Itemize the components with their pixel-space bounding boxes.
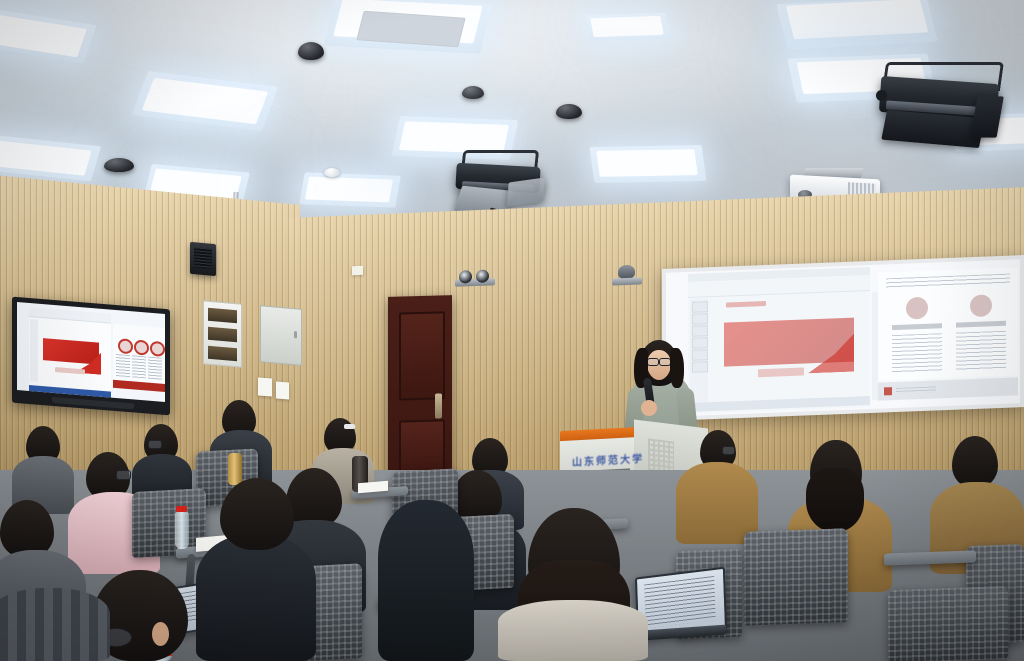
camera-bracket xyxy=(612,277,642,285)
ceiling-speaker-icon xyxy=(104,158,134,172)
camera-pair xyxy=(455,267,495,290)
attendee-head xyxy=(286,468,342,528)
column-body-text xyxy=(892,333,942,373)
attendee-body xyxy=(676,462,758,544)
ceiling-speaker-icon xyxy=(298,42,324,60)
slide-title-block xyxy=(43,338,99,365)
icon-circle xyxy=(118,338,133,354)
led-panel xyxy=(305,177,393,203)
laptop-document-text xyxy=(644,576,715,628)
barn-door xyxy=(970,96,1004,137)
text-block xyxy=(148,357,162,380)
slide-two-column xyxy=(878,267,1018,380)
attendee-head xyxy=(952,436,998,488)
icon-circle xyxy=(970,294,992,317)
wall-speaker xyxy=(190,242,216,276)
panel-slot xyxy=(208,346,237,362)
attendee-body xyxy=(196,534,316,661)
column-title xyxy=(956,321,1006,328)
plaid-shirt-attendee xyxy=(0,588,110,661)
icon-circle xyxy=(906,297,928,320)
barn-door xyxy=(507,177,545,206)
led-panel xyxy=(399,121,509,153)
slide-thumbnail[interactable] xyxy=(692,349,708,361)
panel-slot xyxy=(208,327,237,343)
light-knob xyxy=(876,90,887,101)
ptz-camera xyxy=(612,264,642,289)
text-block xyxy=(116,354,130,377)
speaker-grille xyxy=(194,247,212,269)
ceiling-speaker-icon xyxy=(556,104,582,119)
control-panel[interactable] xyxy=(203,300,242,367)
door-handle-icon[interactable] xyxy=(435,393,442,418)
wall-display[interactable] xyxy=(12,297,170,416)
electrical-cabinet xyxy=(260,305,302,366)
notice-paper xyxy=(276,382,289,400)
attendee-hair-long xyxy=(806,468,864,532)
slide-thumbnail[interactable] xyxy=(692,325,708,337)
smoke-detector-icon xyxy=(324,168,340,177)
slide-thumbnail[interactable] xyxy=(692,361,708,373)
right-scrollbar[interactable] xyxy=(872,292,878,400)
projection-screen xyxy=(662,255,1024,421)
led-panel xyxy=(596,149,698,177)
column-body-text xyxy=(956,331,1006,371)
text-block xyxy=(132,355,146,378)
lecture-hall-photo: 山东师范大学 xyxy=(0,0,1024,661)
attendee-glasses-icon xyxy=(148,440,162,449)
projected-image xyxy=(666,259,1020,417)
thumbnail-rail xyxy=(30,319,38,382)
slide-thumbnail[interactable] xyxy=(692,301,708,313)
bottle-cap-icon xyxy=(176,506,187,512)
classroom-door[interactable] xyxy=(388,295,452,487)
notice-paper xyxy=(352,266,363,275)
presenter-glasses-icon xyxy=(647,358,659,366)
chair-back xyxy=(744,528,848,626)
chair-back xyxy=(888,586,1008,661)
footer-logo xyxy=(884,387,892,395)
led-panel xyxy=(590,16,663,37)
icon-circle xyxy=(150,341,165,357)
slide-heading-text xyxy=(886,274,1010,289)
attendee-ear xyxy=(152,622,169,646)
presenter-hand xyxy=(641,400,657,416)
notice-paper xyxy=(258,378,272,397)
attendee-body xyxy=(378,500,474,661)
door-panel-lower xyxy=(399,419,445,476)
door-panel-upper xyxy=(399,311,445,400)
attendee-body xyxy=(498,600,648,661)
slide-thumbnail[interactable] xyxy=(692,313,708,325)
ceiling-speaker-icon xyxy=(462,86,484,99)
display-screen xyxy=(17,302,165,402)
cabinet-latch xyxy=(294,331,297,338)
attendee-glasses-icon xyxy=(116,470,131,480)
column-title xyxy=(892,323,942,330)
presenter-hair-side xyxy=(670,348,684,388)
attendee-glasses-icon xyxy=(722,446,735,455)
slide-thumbnail[interactable] xyxy=(692,337,708,349)
stage-light-right xyxy=(876,62,1006,158)
icon-circle xyxy=(134,339,149,355)
hair-clip-icon xyxy=(344,424,355,429)
thermos-flask xyxy=(228,453,242,485)
panel-slot xyxy=(208,308,237,324)
water-bottle xyxy=(175,511,189,549)
